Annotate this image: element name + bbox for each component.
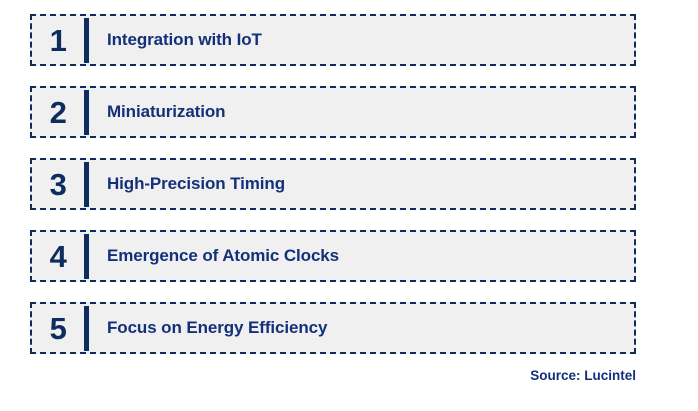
source-note: Source: Lucintel <box>530 368 636 383</box>
trend-label: High-Precision Timing <box>89 174 285 194</box>
trend-rank-number: 4 <box>32 241 84 272</box>
trend-rank-number: 5 <box>32 313 84 344</box>
trend-list: 1 Integration with IoT 2 Miniaturization… <box>30 14 636 354</box>
trend-rank-number: 3 <box>32 169 84 200</box>
trend-rank-number: 2 <box>32 97 84 128</box>
trend-label: Focus on Energy Efficiency <box>89 318 327 338</box>
trend-label: Miniaturization <box>89 102 225 122</box>
trend-row[interactable]: 4 Emergence of Atomic Clocks <box>30 230 636 282</box>
trend-rank-number: 1 <box>32 25 84 56</box>
trend-row[interactable]: 5 Focus on Energy Efficiency <box>30 302 636 354</box>
trend-row[interactable]: 3 High-Precision Timing <box>30 158 636 210</box>
trend-row[interactable]: 1 Integration with IoT <box>30 14 636 66</box>
trend-label: Emergence of Atomic Clocks <box>89 246 339 266</box>
trend-label: Integration with IoT <box>89 30 262 50</box>
trend-row[interactable]: 2 Miniaturization <box>30 86 636 138</box>
